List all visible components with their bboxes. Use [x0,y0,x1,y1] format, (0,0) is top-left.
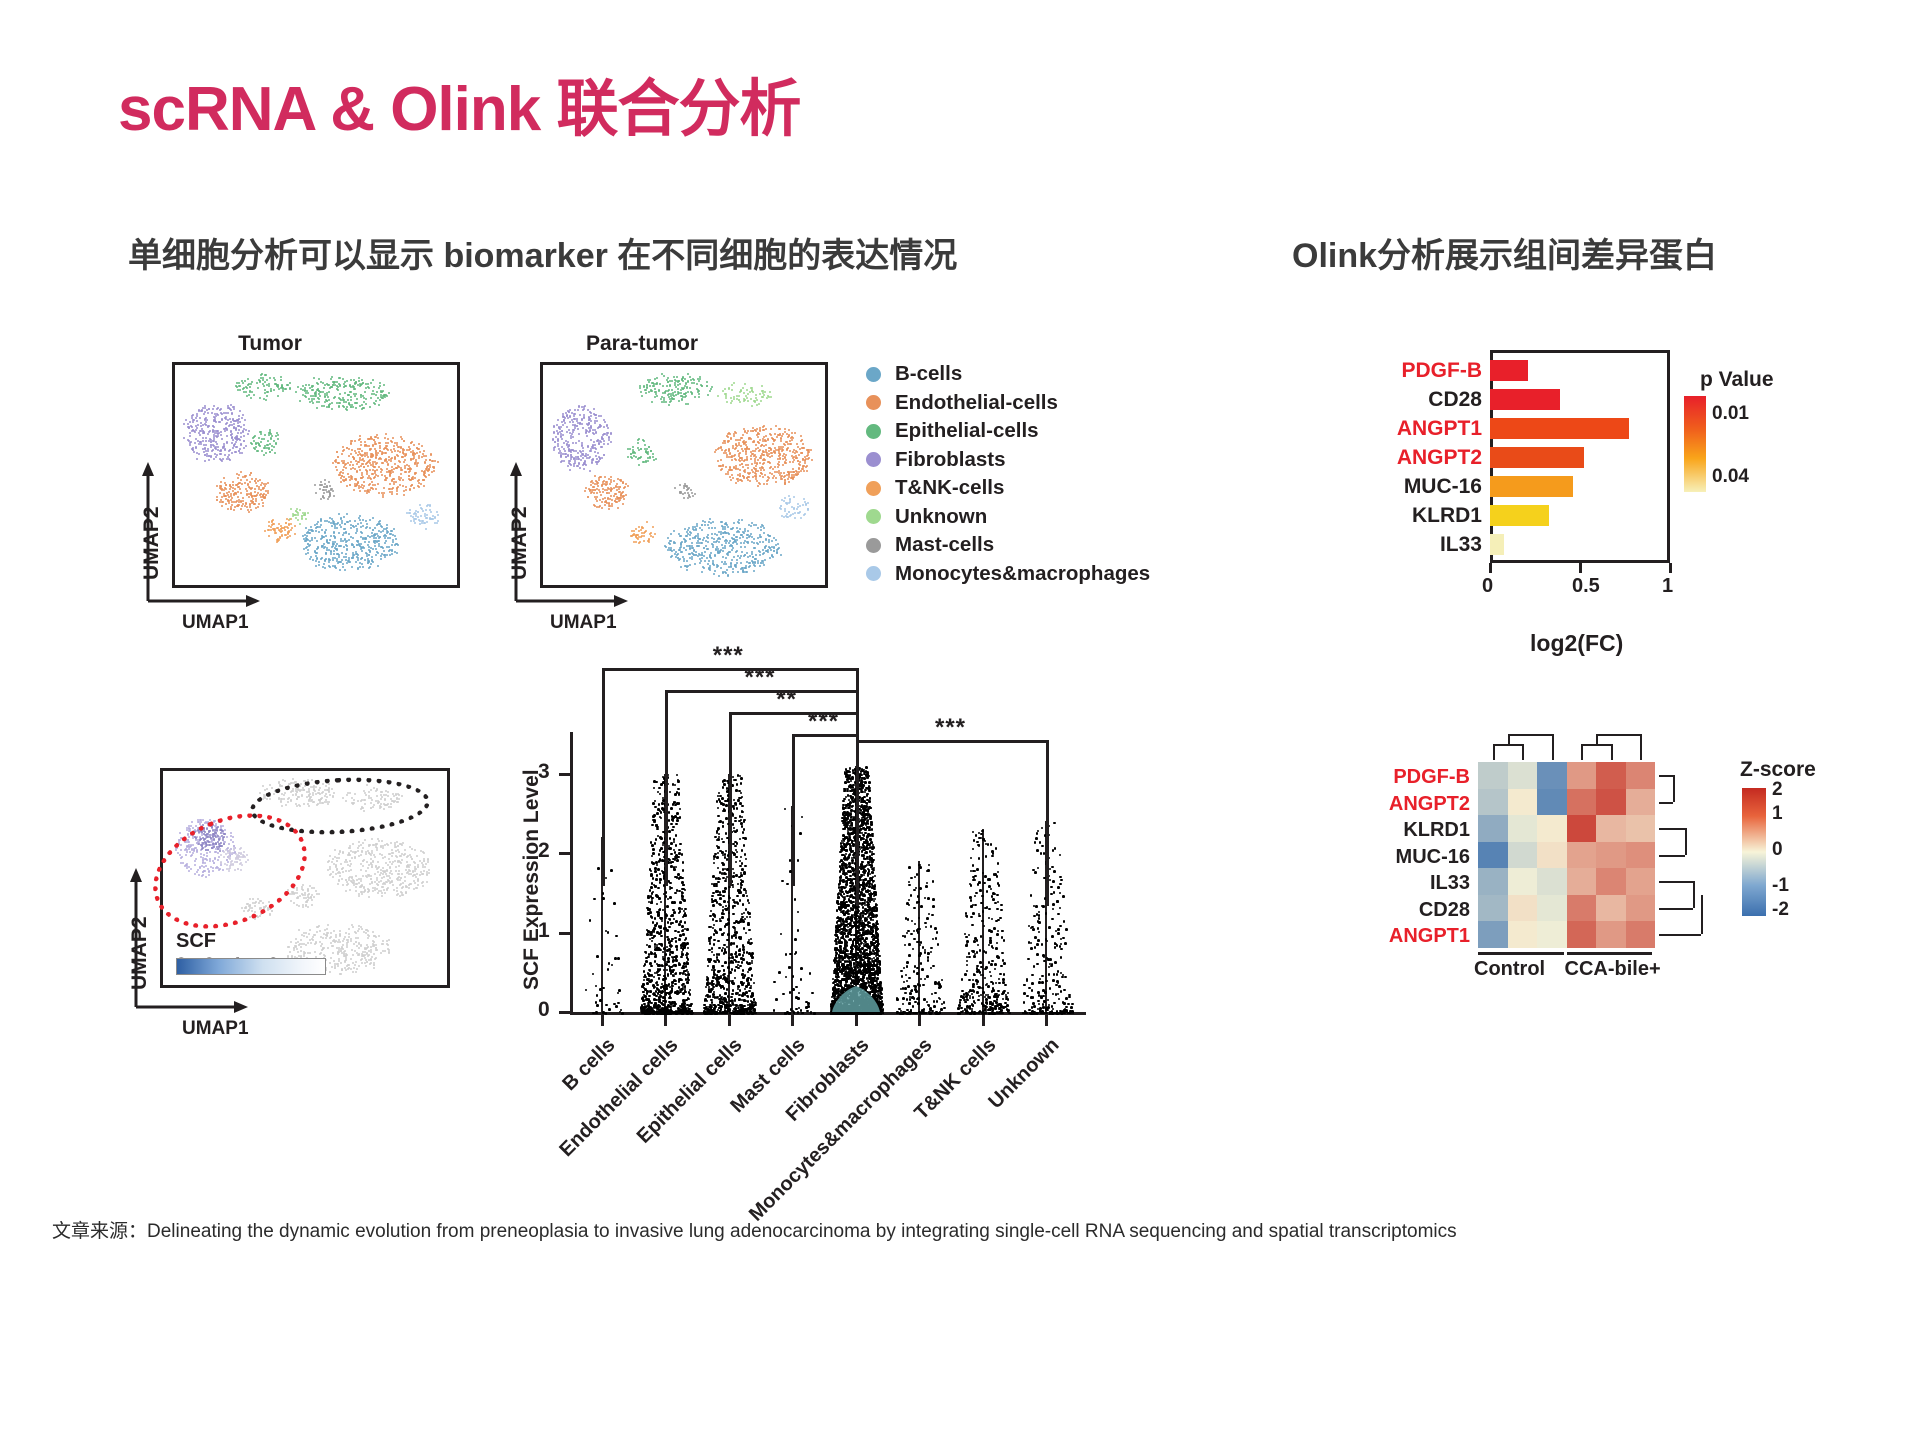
umap-point [300,950,302,952]
umap-point [425,509,427,511]
umap-point [749,565,751,567]
umap-point [315,565,317,567]
umap-paratumor-xlabel: UMAP1 [550,612,617,634]
umap-point [339,875,341,877]
umap-point [372,379,374,381]
umap-point [376,849,378,851]
umap-point [806,465,808,467]
umap-point [209,430,211,432]
legend-item: Monocytes&macrophages [866,560,1150,589]
umap-point [424,515,426,517]
umap-point [295,391,297,393]
umap-point [384,856,386,858]
umap-point [246,387,248,389]
umap-point [352,926,354,928]
umap-point [762,396,764,398]
umap-point [380,880,382,882]
umap-point [677,391,679,393]
umap-point [362,525,364,527]
umap-point [392,539,394,541]
umap-point [437,514,439,516]
umap-point [719,550,721,552]
umap-point [339,402,341,404]
umap-point [712,521,714,523]
umap-point [374,466,376,468]
umap-point [350,869,352,871]
umap-point [221,438,223,440]
umap-point [763,454,765,456]
umap-point [744,459,746,461]
umap-point [791,455,793,457]
umap-point [359,405,361,407]
umap-point [261,373,263,375]
umap-point [404,876,406,878]
umap-point [677,393,679,395]
umap-point [330,535,332,537]
umap-point [391,863,393,865]
umap-point [720,446,722,448]
umap-point [207,425,209,427]
umap-point [325,937,327,939]
umap-point [352,843,354,845]
umap-point [241,417,243,419]
umap-point [767,476,769,478]
umap-point [706,557,708,559]
umap-point [789,461,791,463]
umap-point [227,412,229,414]
umap-point [357,568,359,570]
umap-point [263,438,265,440]
umap-point [332,876,334,878]
umap-point [762,390,764,392]
umap-point [349,889,351,891]
umap-point [348,870,350,872]
umap-point [364,441,366,443]
umap-point [263,385,265,387]
umap-point [637,538,639,540]
umap-point [414,870,416,872]
umap-point [289,518,291,520]
umap-point [190,425,192,427]
umap-point [805,458,807,460]
umap-point [331,966,333,968]
umap-point [564,450,566,452]
umap-point [684,528,686,530]
umap-point [810,449,812,451]
umap-point [371,838,373,840]
umap-point [799,461,801,463]
umap-point [668,396,670,398]
umap-point [760,536,762,538]
umap-point [311,529,313,531]
umap-point [639,385,641,387]
umap-point [590,439,592,441]
umap-point [356,398,358,400]
umap-point [195,417,197,419]
umap-point [372,455,374,457]
umap-point [406,856,408,858]
umap-point [770,449,772,451]
umap-point [325,558,327,560]
umap-point [769,472,771,474]
umap-point [731,549,733,551]
umap-point [743,443,745,445]
umap-point [789,515,791,517]
umap-point [755,524,757,526]
umap-point [416,873,418,875]
umap-point [433,466,435,468]
umap-point [325,529,327,531]
umap-point [358,380,360,382]
umap-point [782,464,784,466]
umap-point [386,870,388,872]
umap-point [360,926,362,928]
umap-point [603,440,605,442]
umap-point [396,490,398,492]
umap-point [273,523,275,525]
umap-point [680,544,682,546]
umap-point [259,397,261,399]
umap-point [753,542,755,544]
umap-point [673,376,675,378]
umap-point [408,449,410,451]
umap-point [789,450,791,452]
umap-point [640,456,642,458]
umap-point [735,566,737,568]
umap-point [404,880,406,882]
umap-point [553,449,555,451]
umap-point [649,379,651,381]
umap-point [678,533,680,535]
umap-point [698,396,700,398]
umap-point [336,402,338,404]
umap-point [654,388,656,390]
umap-point [738,522,740,524]
umap-point [380,555,382,557]
umap-point [319,395,321,397]
umap-point [418,448,420,450]
umap-point [269,784,271,786]
umap-point [391,553,393,555]
umap-point [379,536,381,538]
umap-point [772,443,774,445]
umap-point [359,490,361,492]
umap-point [645,450,647,452]
umap-point [738,519,740,521]
umap-point [392,884,394,886]
umap-point [236,436,238,438]
umap-point [732,568,734,570]
umap-point [245,429,247,431]
umap-point [724,388,726,390]
umap-point [795,457,797,459]
umap-point [652,456,654,458]
umap-point [363,466,365,468]
umap-point [371,882,373,884]
umap-point [264,497,266,499]
umap-point [266,395,268,397]
umap-point [659,383,661,385]
umap-point [780,440,782,442]
umap-point [342,871,344,873]
umap-point [754,458,756,460]
umap-point [269,377,271,379]
umap-point [733,435,735,437]
umap-point [336,560,338,562]
umap-point [402,485,404,487]
umap-point [801,447,803,449]
umap-point [654,396,656,398]
umap-point [757,459,759,461]
umap-point [338,474,340,476]
umap-point [383,487,385,489]
umap-point [647,453,649,455]
umap-point [325,486,327,488]
umap-point [382,847,384,849]
umap-point [327,947,329,949]
umap-point [792,468,794,470]
umap-point [352,962,354,964]
umap-point [354,395,356,397]
umap-point [345,870,347,872]
umap-point [786,516,788,518]
umap-point [337,965,339,967]
umap-point [198,453,200,455]
umap-point [635,541,637,543]
umap-point [380,546,382,548]
umap-point [207,412,209,414]
umap-point [730,528,732,530]
umap-point [333,532,335,534]
umap-point [780,438,782,440]
umap-point [791,439,793,441]
umap-point [183,423,185,425]
umap-point [315,555,317,557]
umap-point [573,429,575,431]
umap-point [749,480,751,482]
umap-point [757,485,759,487]
legend-color-dot [866,395,881,410]
umap-point [708,527,710,529]
umap-point [396,841,398,843]
umap-point [207,450,209,452]
umap-point [669,384,671,386]
umap-point [385,452,387,454]
umap-point [722,528,724,530]
umap-point [652,536,654,538]
umap-point [408,887,410,889]
umap-point [667,377,669,379]
umap-point [373,953,375,955]
umap-point [746,389,748,391]
umap-point [713,538,715,540]
umap-point [582,427,584,429]
umap-point [199,417,201,419]
umap-point [286,384,288,386]
umap-point [345,890,347,892]
umap-point [349,845,351,847]
umap-point [326,541,328,543]
umap-point [373,854,375,856]
umap-point [694,396,696,398]
umap-point [764,474,766,476]
umap-point [696,383,698,385]
umap-point [273,446,275,448]
umap-point [741,519,743,521]
umap-point [791,432,793,434]
umap-point [382,886,384,888]
umap-point [297,519,299,521]
umap-point [366,445,368,447]
umap-point [679,484,681,486]
umap-point [311,899,313,901]
umap-point [354,450,356,452]
umap-point [305,539,307,541]
umap-point [341,868,343,870]
umap-point [369,483,371,485]
umap-point [307,539,309,541]
umap-point [376,469,378,471]
umap-point [286,537,288,539]
umap-point [395,467,397,469]
umap-point [736,398,738,400]
legend-item: Mast-cells [866,531,1150,560]
umap-point [421,456,423,458]
umap-point [396,493,398,495]
umap-point [377,871,379,873]
umap-point [403,440,405,442]
umap-point [348,928,350,930]
umap-point [226,435,228,437]
umap-point [720,459,722,461]
umap-point [677,553,679,555]
umap-point [260,433,262,435]
umap-point [243,428,245,430]
umap-point [721,468,723,470]
umap-point [596,420,598,422]
umap-point [793,459,795,461]
umap-point [370,858,372,860]
umap-point [649,385,651,387]
umap-point [376,391,378,393]
umap-point [307,896,309,898]
umap-point [214,430,216,432]
umap-point [357,847,359,849]
umap-point [214,453,216,455]
umap-point [347,883,349,885]
umap-point [389,861,391,863]
umap-point [767,439,769,441]
umap-point [369,527,371,529]
umap-point [775,481,777,483]
umap-point [388,853,390,855]
umap-point [727,526,729,528]
umap-point [594,444,596,446]
umap-point [370,959,372,961]
umap-point [330,488,332,490]
umap-point [329,868,331,870]
umap-point [386,530,388,532]
umap-point [239,410,241,412]
legend-item: B-cells [866,360,1150,389]
umap-point [398,876,400,878]
umap-point [404,465,406,467]
umap-point [797,506,799,508]
umap-point [371,850,373,852]
umap-point [702,539,704,541]
umap-point [428,468,430,470]
umap-point [588,419,590,421]
umap-point [733,522,735,524]
umap-point [731,559,733,561]
umap-point [190,441,192,443]
umap-point [680,392,682,394]
umap-point [392,471,394,473]
umap-point [725,572,727,574]
umap-point [231,413,233,415]
umap-point [725,466,727,468]
umap-point [767,479,769,481]
umap-point [359,469,361,471]
umap-point [416,855,418,857]
umap-point [215,441,217,443]
umap-point [363,485,365,487]
umap-point [383,550,385,552]
umap-point [350,396,352,398]
umap-point [235,441,237,443]
umap-point [271,435,273,437]
umap-point [718,575,720,577]
umap-point [350,536,352,538]
umap-point [590,450,592,452]
umap-point [755,430,757,432]
umap-point [646,521,648,523]
umap-point [695,554,697,556]
umap-point [704,560,706,562]
umap-point [788,511,790,513]
umap-point [572,449,574,451]
umap-point [240,432,242,434]
umap-point [348,557,350,559]
umap-point [683,487,685,489]
umap-point [262,502,264,504]
umap-point [414,862,416,864]
umap-point [423,852,425,854]
umap-point [593,441,595,443]
umap-point [328,384,330,386]
umap-point [661,401,663,403]
umap-point [629,448,631,450]
umap-point [391,441,393,443]
umap-point [381,892,383,894]
umap-point [379,445,381,447]
umap-point [316,558,318,560]
umap-point [699,562,701,564]
umap-point [314,951,316,953]
umap-point [648,538,650,540]
umap-point [401,844,403,846]
umap-point [268,432,270,434]
umap-point [411,858,413,860]
umap-point [342,563,344,565]
umap-point [384,892,386,894]
umap-point [316,540,318,542]
umap-point [240,436,242,438]
umap-point [203,451,205,453]
legend-color-dot [866,481,881,496]
umap-point [753,570,755,572]
umap-point [205,437,207,439]
